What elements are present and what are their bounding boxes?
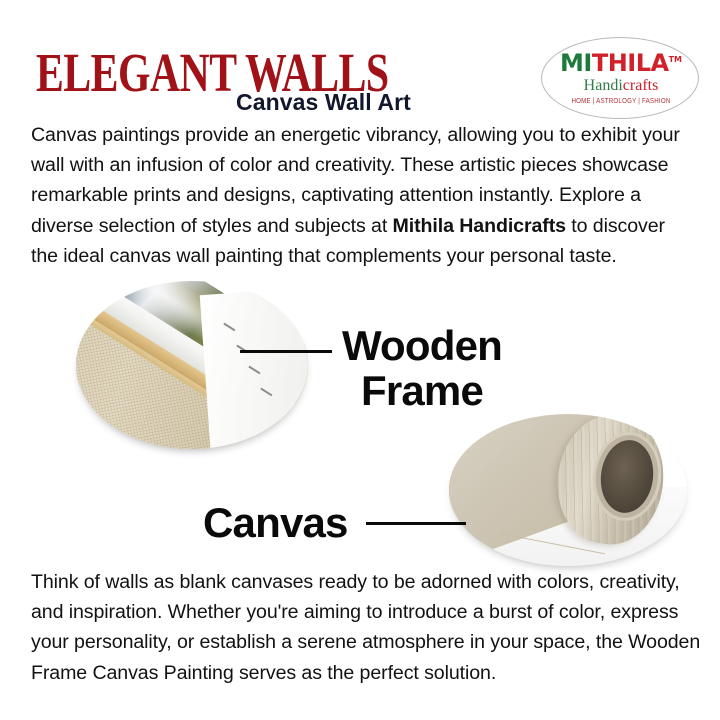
closing-line-2: and inspiration. Whether you're aiming t…: [31, 601, 605, 623]
mithila-handicrafts-logo[interactable]: MITHILATM Handicrafts HOME | ASTROLOGY |…: [541, 37, 699, 119]
wooden-frame-leader-line: [240, 350, 332, 353]
brand-mention: Mithila Handicrafts: [393, 215, 566, 237]
wooden-frame-label-line-2: Frame: [330, 368, 514, 413]
staple-marks: [220, 325, 280, 402]
logo-tagline: HOME | ASTROLOGY | FASHION: [542, 97, 700, 105]
canvas-label: Canvas: [203, 500, 348, 545]
logo-wordmark-accent: T: [592, 49, 608, 77]
closing-line-1: Think of walls as blank canvases ready t…: [31, 571, 680, 593]
wooden-frame-label: Wooden Frame: [330, 323, 514, 413]
page-subtitle: Canvas Wall Art: [236, 89, 411, 116]
logo-subtext-red: crafts: [623, 77, 659, 94]
intro-line-4-post: to: [566, 215, 588, 237]
logo-subtext-green: Handi: [584, 77, 623, 94]
intro-line-6: taste.: [569, 245, 616, 267]
intro-line-1: Canvas paintings provide an energetic vi…: [31, 124, 637, 146]
intro-paragraph: Canvas paintings provide an energetic vi…: [31, 120, 695, 271]
logo-subtext: Handicrafts: [542, 78, 700, 94]
wooden-frame-photo: [76, 281, 308, 449]
trademark-icon: TM: [669, 55, 682, 64]
logo-wordmark-green: MI: [560, 49, 592, 77]
logo-wordmark: MITHILATM: [542, 51, 700, 75]
logo-wordmark-red: HILA: [608, 49, 669, 77]
rolled-canvas-photo: [449, 414, 687, 566]
canvas-leader-line: [366, 522, 466, 525]
closing-paragraph: Think of walls as blank canvases ready t…: [31, 567, 703, 688]
header-banner: ELEGANT WALLS Canvas Wall Art MITHILATM …: [0, 0, 720, 126]
wooden-frame-label-line-1: Wooden: [330, 323, 514, 368]
